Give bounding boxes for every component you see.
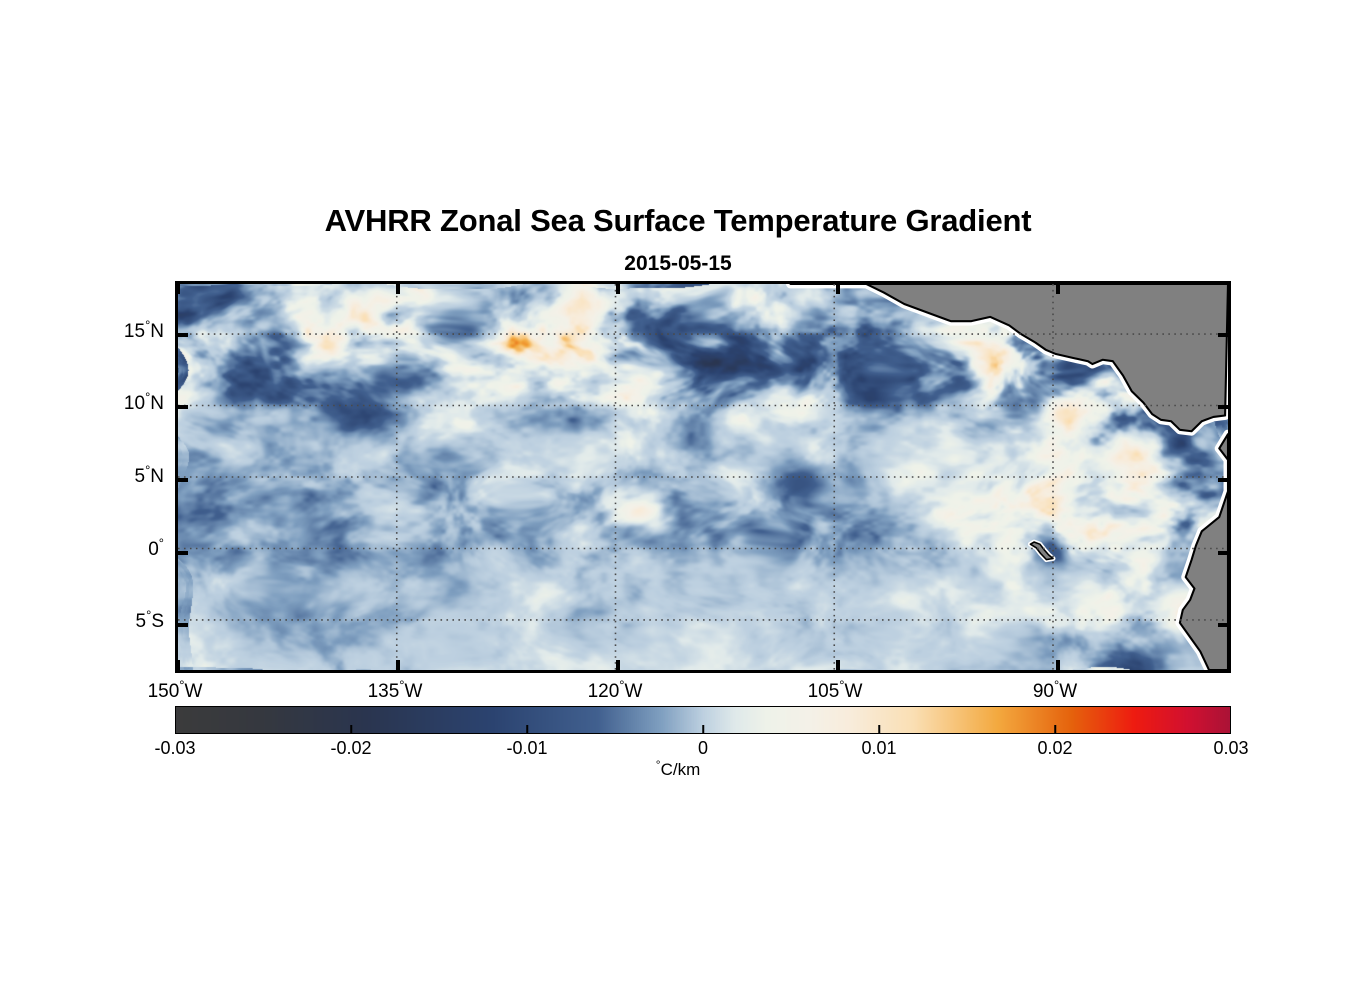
colorbar [175,706,1231,734]
y-axis-tick-label: 15°N [124,321,164,343]
colorbar-tickmark [702,725,704,734]
map-plot-area [175,281,1231,673]
figure-canvas: AVHRR Zonal Sea Surface Temperature Grad… [0,0,1356,1000]
colorbar-tick-label: 0 [698,738,708,759]
colorbar-tickmark [526,725,528,734]
x-axis-tick-label: 135°W [368,681,423,703]
y-axis-tickmark [177,478,188,482]
x-axis-tickmark [396,283,400,294]
chart-title: AVHRR Zonal Sea Surface Temperature Grad… [0,203,1356,239]
x-axis-tickmark [1056,283,1060,294]
y-axis-tickmark [1218,405,1229,409]
x-axis-tickmark [616,660,620,671]
x-axis-tickmark [176,283,180,294]
x-axis-tickmark [836,660,840,671]
map-gridlines [178,284,1228,670]
colorbar-tick-label: 0.01 [861,738,896,759]
y-axis-tickmark [177,551,188,555]
y-axis-tickmark [1218,551,1229,555]
x-axis-tickmark [176,660,180,671]
x-axis-tickmark [616,283,620,294]
chart-subtitle: 2015-05-15 [0,252,1356,276]
y-axis-tick-label: 5°S [136,611,164,633]
colorbar-unit-label: °C/km [0,760,1356,780]
y-axis-tick-labels: 15°N10°N5°N0°5°S [60,281,164,673]
y-axis-tick-label: 10°N [124,393,164,415]
x-axis-tick-label: 105°W [808,681,863,703]
y-axis-tick-label: 5°N [134,466,164,488]
colorbar-tick-label: -0.03 [154,738,195,759]
colorbar-tickmark [1054,725,1056,734]
y-axis-tickmark [177,405,188,409]
x-axis-tick-labels: 150°W135°W120°W105°W90°W [175,681,1231,709]
x-axis-tickmark [396,660,400,671]
y-axis-tickmark [1218,333,1229,337]
y-axis-tick-label: 0° [148,539,164,561]
colorbar-tick-label: 0.03 [1213,738,1248,759]
colorbar-tickmark [878,725,880,734]
colorbar-tick-labels: -0.03-0.02-0.0100.010.020.03 [175,738,1231,762]
colorbar-tick-label: 0.02 [1037,738,1072,759]
y-axis-tickmark [1218,478,1229,482]
x-axis-tick-label: 120°W [588,681,643,703]
colorbar-tick-label: -0.02 [330,738,371,759]
colorbar-tickmark [350,725,352,734]
colorbar-tick-label: -0.01 [506,738,547,759]
y-axis-tickmark [1218,623,1229,627]
x-axis-tickmark [836,283,840,294]
x-axis-tick-label: 90°W [1033,681,1077,703]
x-axis-tick-label: 150°W [148,681,203,703]
x-axis-tickmark [1056,660,1060,671]
y-axis-tickmark [177,333,188,337]
y-axis-tickmark [177,623,188,627]
